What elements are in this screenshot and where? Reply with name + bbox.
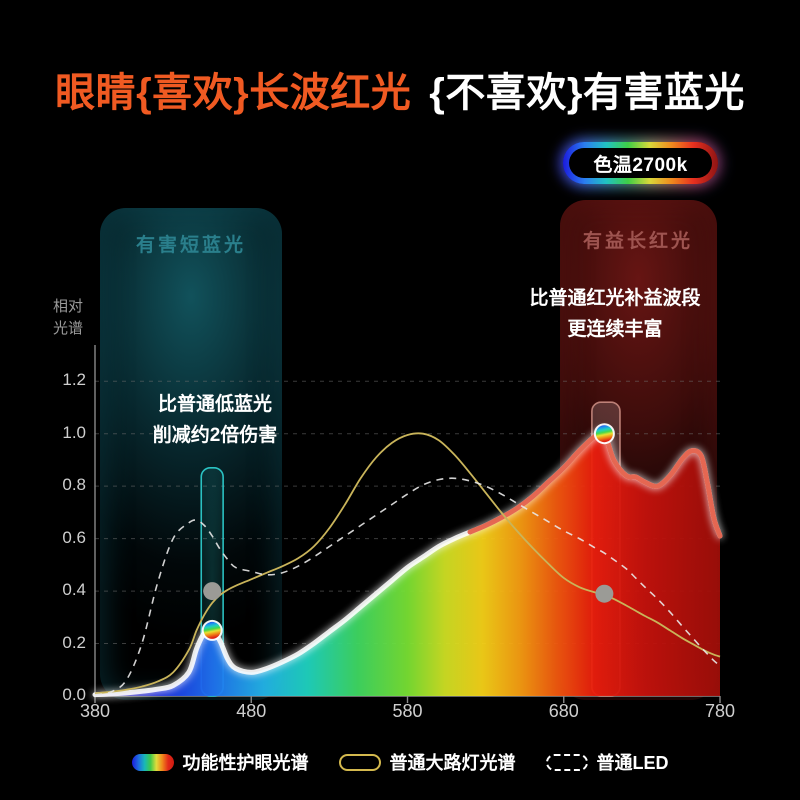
annotation-left-line2: 削减约2倍伤害	[110, 420, 320, 451]
yellow-outline-pill-icon	[339, 754, 381, 771]
annotation-right-line2: 更连续丰富	[470, 314, 760, 345]
x-axis-tick-780: 780	[685, 701, 755, 722]
y-axis-tick-0.4: 0.4	[30, 580, 86, 600]
x-axis-tick-680: 680	[529, 701, 599, 722]
dashed-outline-pill-icon	[546, 754, 588, 771]
annotation-left: 比普通低蓝光 削减约2倍伤害	[110, 389, 320, 451]
y-axis-title-line2: 光谱	[42, 318, 94, 340]
chart-legend: 功能性护眼光谱普通大路灯光谱普通LED	[0, 744, 800, 780]
y-axis-tick-0.8: 0.8	[30, 475, 86, 495]
legend-item-1[interactable]: 功能性护眼光谱	[132, 749, 309, 775]
series-areas	[95, 432, 720, 696]
red-gray-marker	[595, 585, 613, 603]
legend-item-2[interactable]: 普通大路灯光谱	[339, 749, 516, 775]
y-axis-tick-1.0: 1.0	[30, 423, 86, 443]
x-axis-tick-580: 580	[373, 701, 443, 722]
x-axis-tick-380: 380	[60, 701, 130, 722]
rainbow-pill-icon	[132, 754, 174, 771]
y-axis-title: 相对 光谱	[42, 296, 94, 340]
legend-label-2: 普通大路灯光谱	[390, 749, 516, 775]
annotation-right: 比普通红光补益波段 更连续丰富	[470, 283, 760, 345]
annotation-left-line1: 比普通低蓝光	[110, 389, 320, 420]
red-peak-marker	[596, 425, 613, 442]
legend-label-1: 功能性护眼光谱	[183, 749, 309, 775]
y-axis-tick-0.2: 0.2	[30, 633, 86, 653]
legend-label-3: 普通LED	[597, 749, 669, 775]
legend-item-3[interactable]: 普通LED	[546, 749, 669, 775]
y-axis-tick-1.2: 1.2	[30, 370, 86, 390]
blue-gray-marker	[203, 582, 221, 600]
blue-peak-marker	[204, 622, 221, 639]
y-axis-tick-0.6: 0.6	[30, 528, 86, 548]
area-functional-eye-care	[95, 432, 720, 696]
y-axis-title-line1: 相对	[42, 296, 94, 318]
annotation-right-line1: 比普通红光补益波段	[470, 283, 760, 314]
x-axis-tick-480: 480	[216, 701, 286, 722]
